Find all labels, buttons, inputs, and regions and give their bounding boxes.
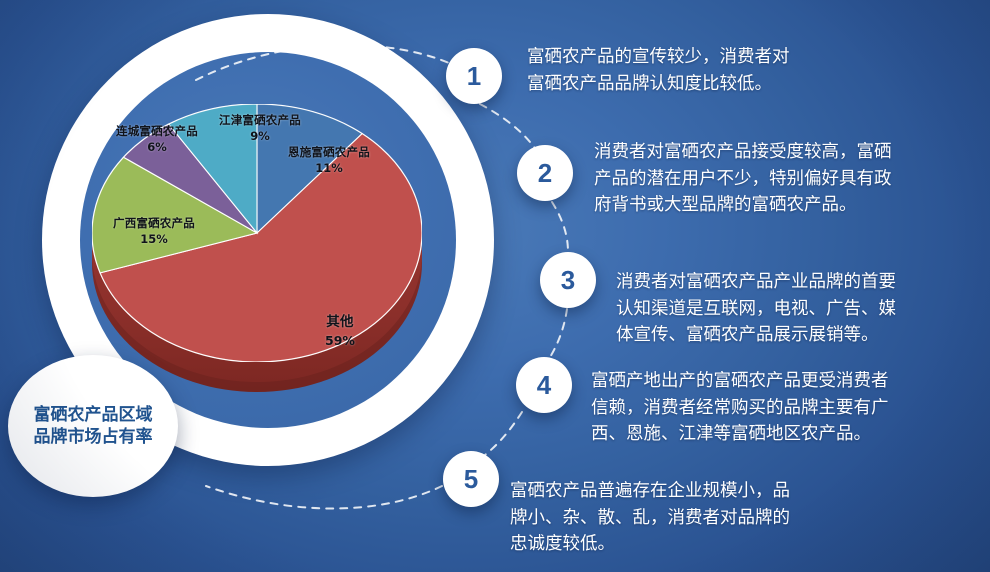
bullet-text-2: 消费者对富硒农产品接受度较高，富硒 产品的潜在用户不少，特别偏好具有政 府背书或… [594, 139, 979, 219]
bullet-text-1: 富硒农产品的宣传较少，消费者对 富硒农产品品牌认知度比较低。 [527, 44, 977, 97]
bullet-number-4[interactable]: 4 [516, 357, 572, 413]
bullet-number-1-label: 1 [467, 61, 481, 92]
pie-label-enshi-name: 恩施富硒农产品 [288, 145, 370, 159]
pie-label-other-name: 其他 [325, 314, 355, 331]
chart-title-bubble: 富硒农产品区域品牌市场占有率 [8, 355, 178, 497]
bullet-number-2-label: 2 [538, 158, 552, 189]
pie-label-enshi: 恩施富硒农产品 11% [288, 145, 370, 176]
bullet-number-2[interactable]: 2 [517, 145, 573, 201]
pie-label-other-value: 59% [325, 333, 355, 349]
bullet-number-4-label: 4 [537, 370, 551, 401]
pie-label-liancheng: 连城富硒农产品 6% [116, 124, 198, 155]
bullet-number-5-label: 5 [464, 464, 478, 495]
bullet-text-5: 富硒农产品普遍存在企业规模小，品 牌小、杂、散、乱，消费者对品牌的 忠诚度较低。 [510, 478, 980, 558]
pie-label-guangxi-value: 15% [113, 232, 195, 246]
pie-label-liancheng-name: 连城富硒农产品 [116, 124, 198, 138]
pie-label-liancheng-value: 6% [116, 140, 198, 154]
arc-segment-2-3 [552, 202, 568, 252]
bullet-text-4: 富硒产地出产的富硒农产品更受消费者 信赖，消费者经常购买的品牌主要有广 西、恩施… [591, 368, 983, 448]
pie-label-guangxi: 广西富硒农产品 15% [113, 216, 195, 247]
pie-label-other: 其他 59% [325, 314, 355, 349]
pie-label-enshi-value: 11% [288, 161, 370, 175]
pie-label-jiangjin-value: 9% [219, 129, 301, 143]
pie-label-guangxi-name: 广西富硒农产品 [113, 216, 195, 230]
bullet-number-3[interactable]: 3 [540, 252, 596, 308]
pie-label-jiangjin: 江津富硒农产品 9% [219, 113, 301, 144]
chart-title-text: 富硒农产品区域品牌市场占有率 [33, 404, 153, 449]
slide-canvas: 连城富硒农产品 6% 江津富硒农产品 9% 恩施富硒农产品 11% 广西富硒农产… [0, 0, 990, 572]
pie-label-jiangjin-name: 江津富硒农产品 [219, 113, 301, 127]
bullet-number-5[interactable]: 5 [443, 451, 499, 507]
bullet-number-1[interactable]: 1 [446, 48, 502, 104]
bullet-number-3-label: 3 [561, 265, 575, 296]
bullet-text-3: 消费者对富硒农产品产业品牌的首要 认知渠道是互联网，电视、广告、媒 体宣传、富硒… [616, 269, 982, 349]
